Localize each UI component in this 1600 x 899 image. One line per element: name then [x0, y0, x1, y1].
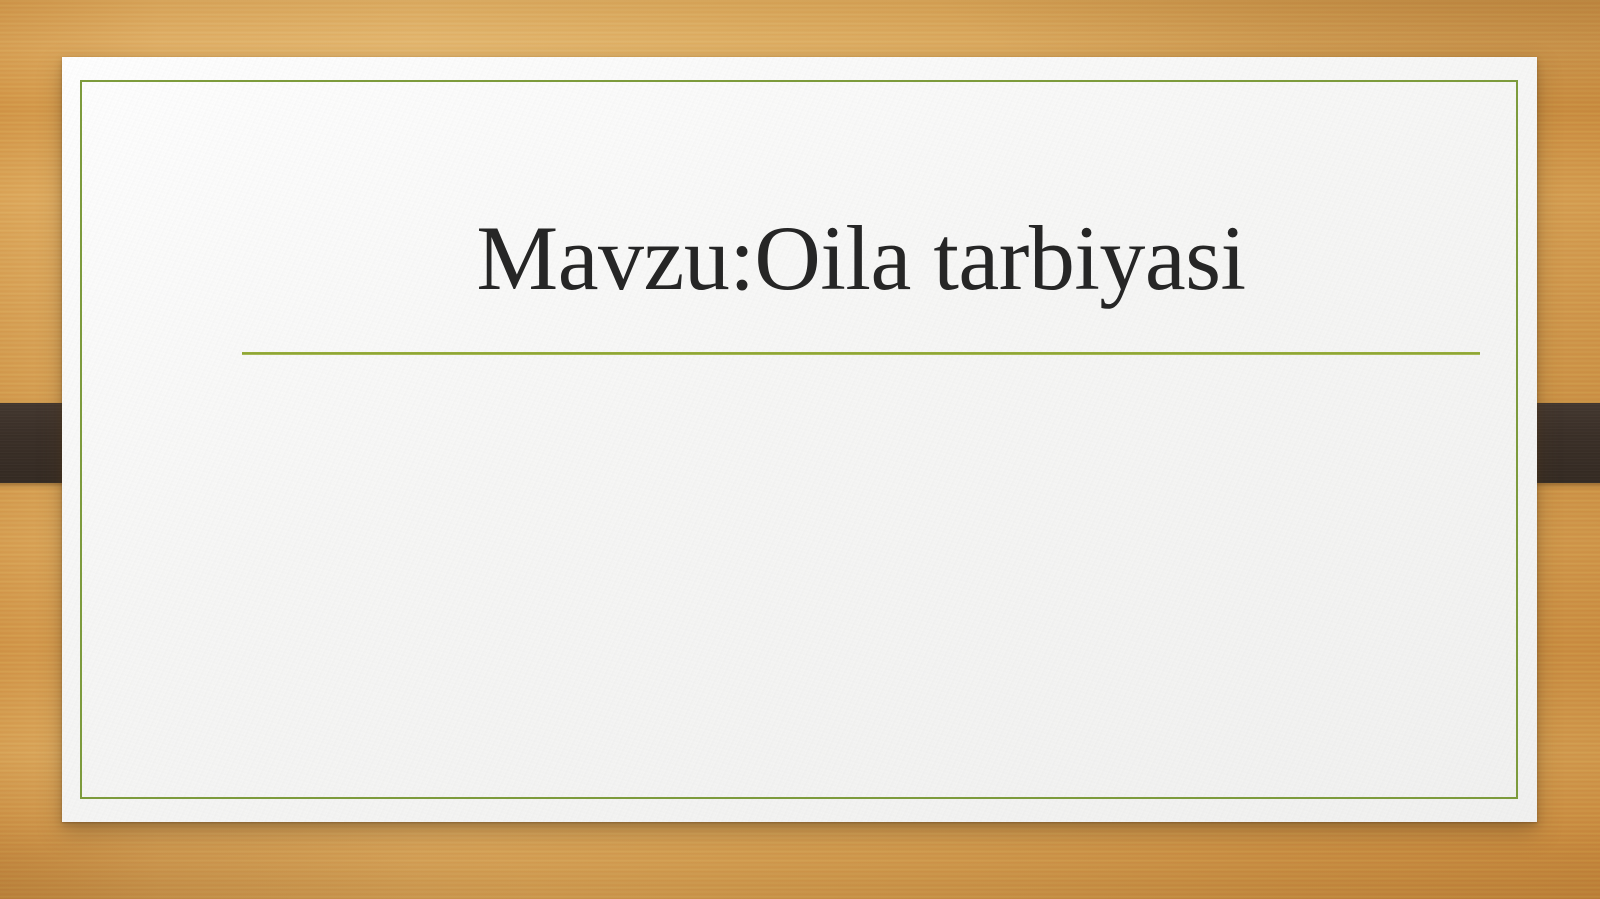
title-underline-rule: [242, 352, 1480, 355]
page-title[interactable]: Mavzu:Oila tarbiyasi: [242, 207, 1480, 310]
presentation-slide: Mavzu:Oila tarbiyasi: [0, 0, 1600, 899]
subtitle-placeholder[interactable]: [242, 397, 1480, 837]
slide-paper-card: Mavzu:Oila tarbiyasi: [62, 57, 1537, 822]
title-placeholder[interactable]: Mavzu:Oila tarbiyasi: [242, 207, 1480, 355]
